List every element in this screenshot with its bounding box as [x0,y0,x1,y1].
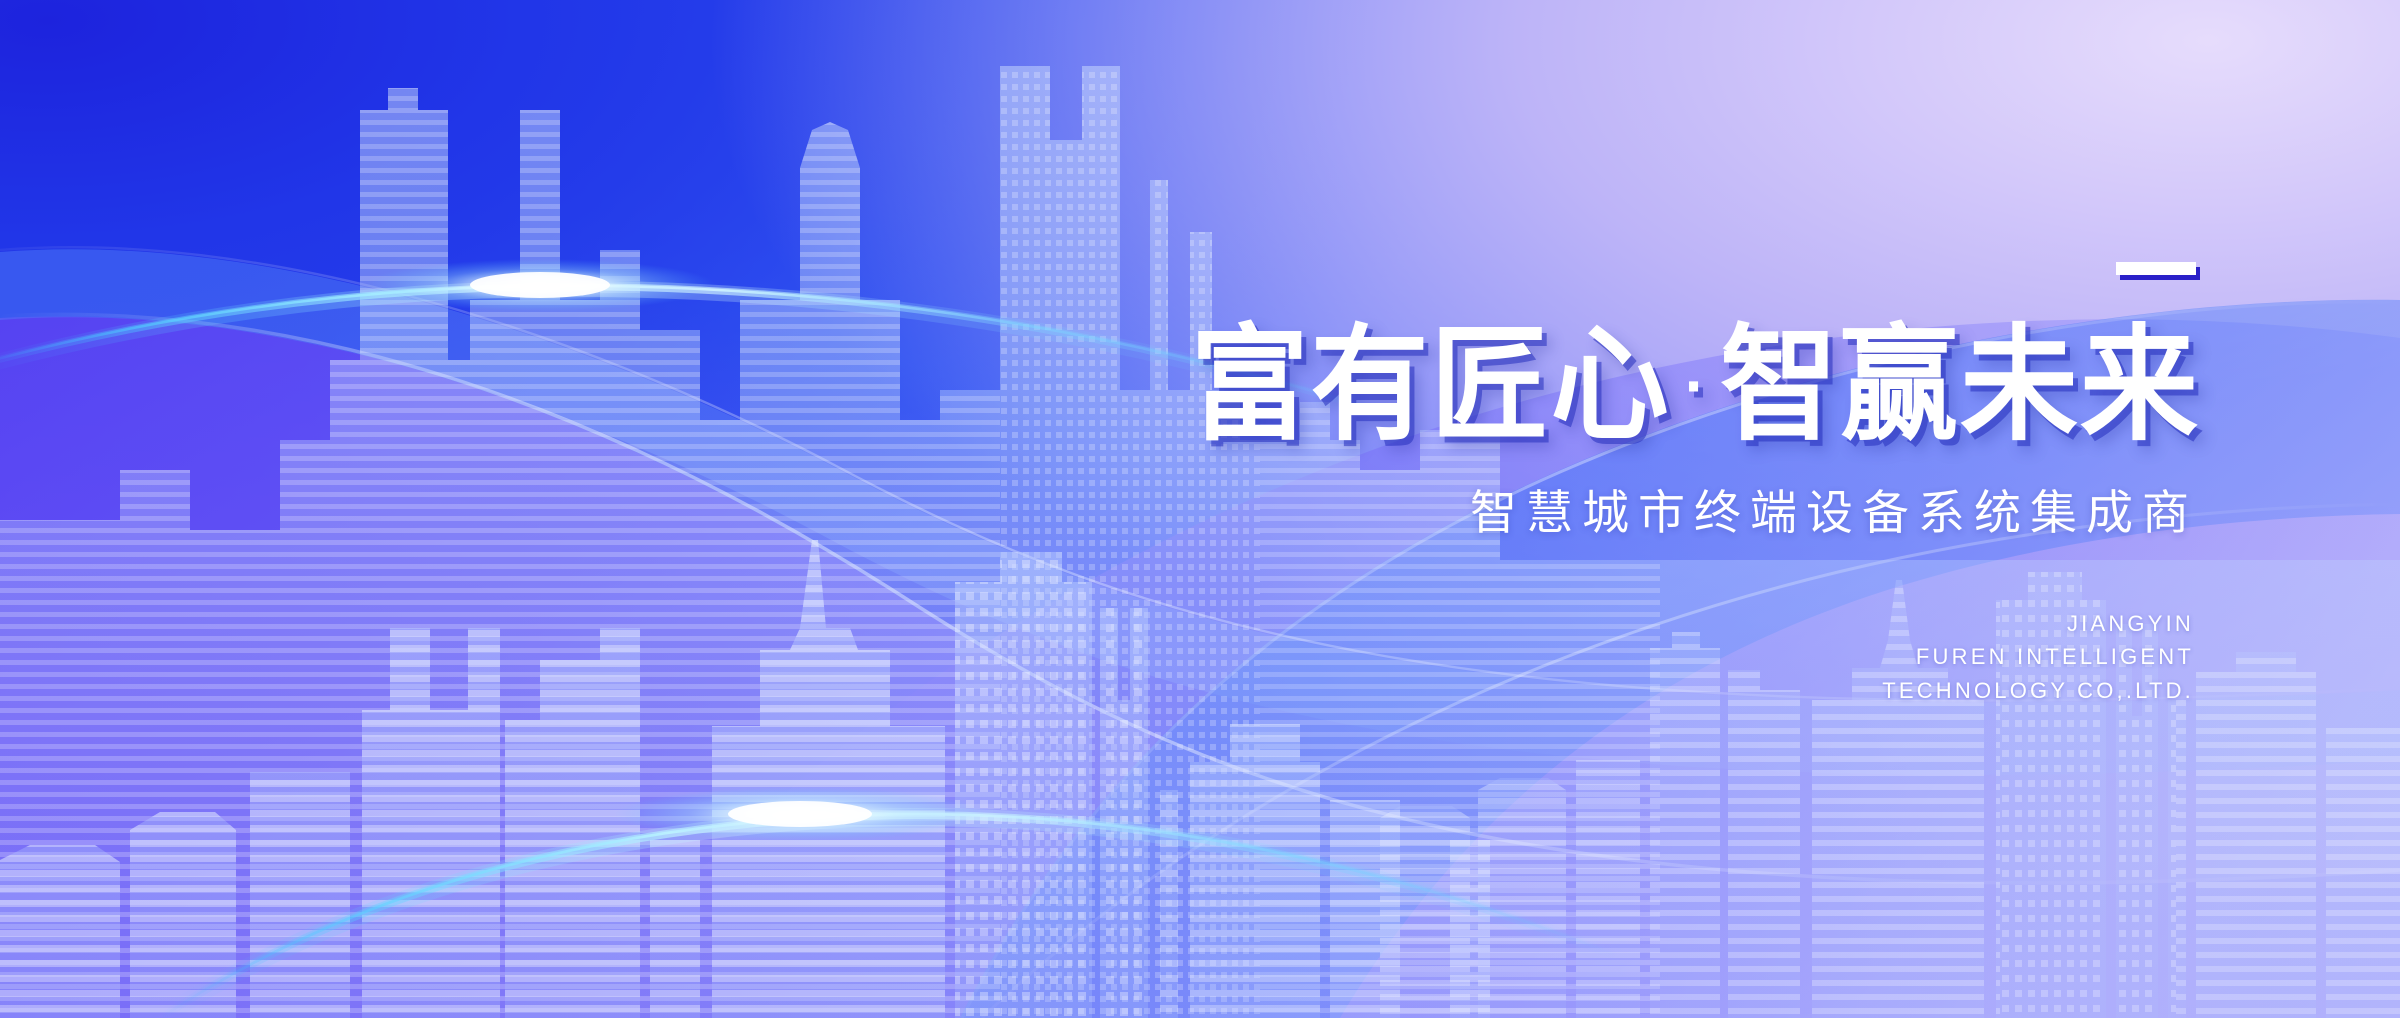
company-line-1: JIANGYIN [960,607,2194,640]
headline-block: 富有匠心·智赢未来 智慧城市终端设备系统集成商 JIANGYIN FUREN I… [960,262,2200,707]
promotional-banner: 富有匠心·智赢未来 智慧城市终端设备系统集成商 JIANGYIN FUREN I… [0,0,2400,1018]
title-part-left: 富有匠心 [1191,316,1671,456]
glow-arc-bottom [160,787,1620,1018]
company-line-3: TECHNOLOGY CO,.LTD. [960,674,2194,707]
title-separator-dot: · [1671,347,1720,423]
accent-dash-icon [2116,262,2196,275]
title-part-right: 智赢未来 [1720,316,2200,456]
company-name-block: JIANGYIN FUREN INTELLIGENT TECHNOLOGY CO… [960,607,2200,707]
page-title: 富有匠心·智赢未来 [960,323,2200,448]
page-subtitle: 智慧城市终端设备系统集成商 [960,474,2200,543]
company-line-2: FUREN INTELLIGENT [960,640,2194,673]
